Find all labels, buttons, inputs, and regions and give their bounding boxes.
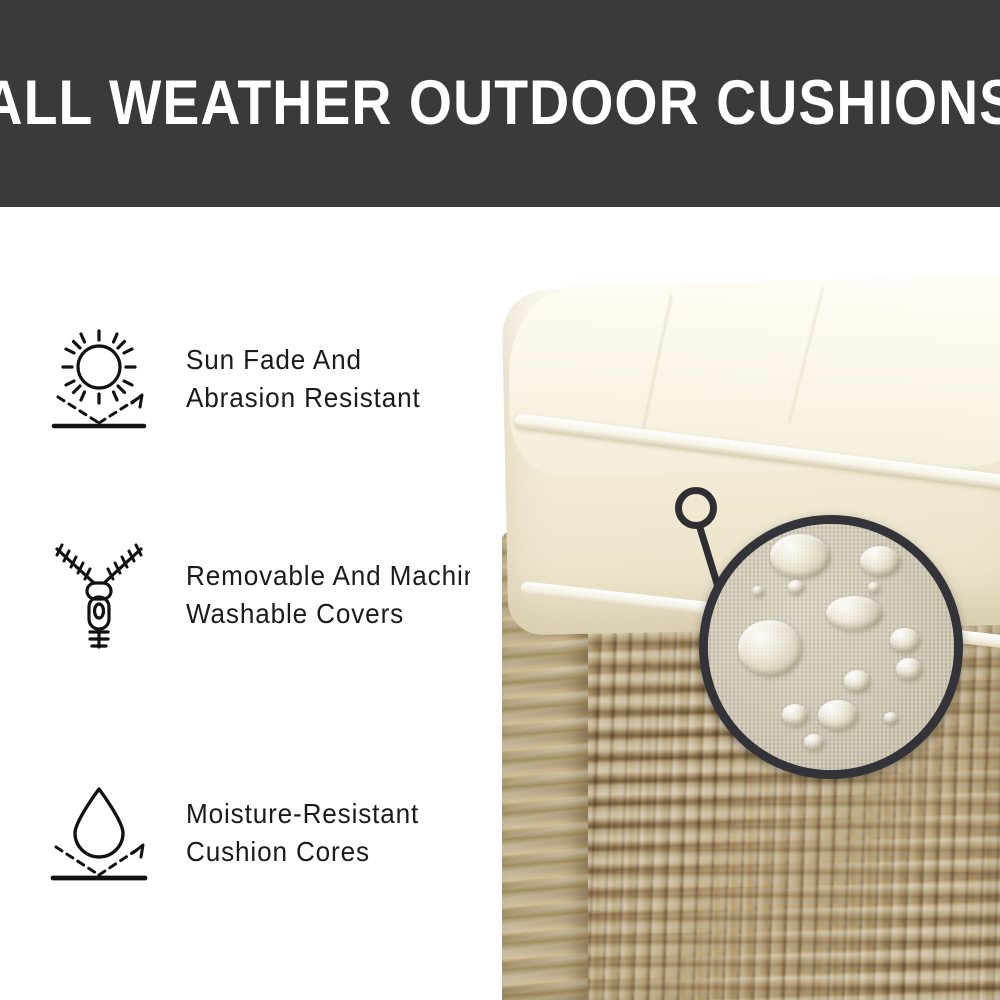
feature-list: Sun Fade And Abrasion Resistant <box>0 207 470 1000</box>
feature-item-washable-covers: Removable And Machine Washable Covers <box>40 539 470 651</box>
feature-line-2: Washable Covers <box>186 595 494 633</box>
water-droplet <box>896 658 922 680</box>
feature-label-sun-fade: Sun Fade And Abrasion Resistant <box>186 341 421 417</box>
feature-line-2: Cushion Cores <box>186 833 419 871</box>
sun-fade-resistant-icon <box>40 323 158 435</box>
water-droplet <box>752 586 764 596</box>
water-droplet <box>868 582 880 593</box>
zipper-icon <box>40 539 158 651</box>
water-droplet <box>818 700 858 730</box>
product-stage <box>470 207 1000 1000</box>
magnifier-water-beading <box>699 515 963 779</box>
infographic-page: ALL WEATHER OUTDOOR CUSHIONS <box>0 0 1000 1000</box>
feature-item-moisture-resistant: Moisture-Resistant Cushion Cores <box>40 777 470 889</box>
feature-line-1: Moisture-Resistant <box>186 795 419 833</box>
water-droplet <box>890 628 920 652</box>
feature-item-sun-fade: Sun Fade And Abrasion Resistant <box>40 323 470 435</box>
water-droplet <box>770 534 830 578</box>
water-droplet <box>826 596 882 630</box>
water-droplet <box>804 734 824 750</box>
feature-line-2: Abrasion Resistant <box>186 379 421 417</box>
water-droplet <box>782 704 808 726</box>
water-droplet <box>884 712 898 724</box>
feature-line-1: Sun Fade And <box>186 341 421 379</box>
water-droplet <box>844 670 870 692</box>
page-title: ALL WEATHER OUTDOOR CUSHIONS <box>0 72 1000 135</box>
feature-line-1: Removable And Machine <box>186 557 494 595</box>
water-droplet <box>738 620 802 676</box>
feature-label-washable-covers: Removable And Machine Washable Covers <box>186 557 494 633</box>
feature-label-moisture-resistant: Moisture-Resistant Cushion Cores <box>186 795 419 871</box>
product-photo <box>470 207 1000 1000</box>
water-droplet-repellent-icon <box>40 777 158 889</box>
water-droplet <box>788 580 804 594</box>
callout-ring-icon <box>675 487 717 529</box>
water-droplet <box>860 546 900 576</box>
header-banner: ALL WEATHER OUTDOOR CUSHIONS <box>0 0 1000 207</box>
